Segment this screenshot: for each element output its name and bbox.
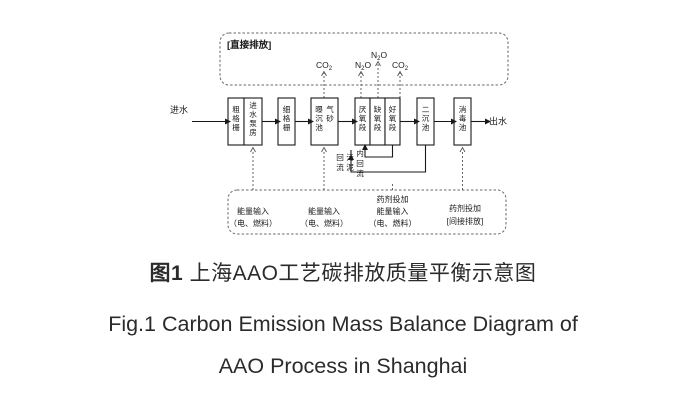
svg-text:房: 房 xyxy=(249,127,257,137)
energy-input-3-line1: 能量输入 xyxy=(377,206,409,216)
direct-emission-label: [直接排放] xyxy=(227,39,271,51)
energy-input-2-line2: （电、燃料） xyxy=(300,218,348,228)
label-aerated-grit-chamber: 曝 xyxy=(315,105,323,114)
svg-text:栅: 栅 xyxy=(232,122,240,132)
caption-english-line2: AAO Process in Shanghai xyxy=(0,354,686,379)
gas-label-co2-aerobic: CO2 xyxy=(392,60,409,72)
label-secondary-clarifier: 二 xyxy=(422,105,430,114)
svg-text:格: 格 xyxy=(232,113,240,123)
svg-text:CO2: CO2 xyxy=(392,60,409,72)
chemical-dosing-2-label: 药剂投加 xyxy=(449,203,481,213)
energy-input-1-line1: 能量输入 xyxy=(237,206,269,216)
svg-text:氧: 氧 xyxy=(389,113,397,123)
svg-text:回: 回 xyxy=(356,159,364,168)
svg-text:流: 流 xyxy=(356,168,364,178)
return-labels: 回 流 污 泥 内 回 流 xyxy=(336,148,364,178)
label-anoxic-zone: 缺 xyxy=(374,104,382,114)
gas-label-n2o-anaerobic: N2O xyxy=(355,60,371,72)
svg-text:毒: 毒 xyxy=(459,113,467,123)
label-fine-screen: 细 xyxy=(283,104,291,114)
chemical-dosing-label: 药剂投加 xyxy=(377,194,409,204)
inflow-label: 进水 xyxy=(170,104,188,115)
input-labels: 能量输入 （电、燃料） 能量输入 （电、燃料） 能量输入 （电、燃料） 药剂投加… xyxy=(229,203,483,228)
energy-input-2-line1: 能量输入 xyxy=(308,206,340,216)
internal-return-path xyxy=(365,145,393,157)
label-anaerobic-zone: 厌 xyxy=(359,105,367,114)
label-aerobic-zone: 好 xyxy=(389,104,397,114)
label-internal-return: 内 xyxy=(356,148,364,158)
svg-text:流: 流 xyxy=(336,162,344,172)
label-influent-pump-room: 进 xyxy=(249,101,257,110)
svg-text:水: 水 xyxy=(249,109,257,119)
svg-text:氧: 氧 xyxy=(359,113,367,123)
svg-text:气: 气 xyxy=(326,104,334,114)
svg-text:氧: 氧 xyxy=(374,113,382,123)
svg-text:格: 格 xyxy=(283,113,291,123)
svg-text:泵: 泵 xyxy=(249,119,257,128)
svg-text:池: 池 xyxy=(422,122,430,132)
svg-text:段: 段 xyxy=(389,122,397,132)
svg-text:砂: 砂 xyxy=(326,113,334,123)
caption-figure-number: 图1 xyxy=(150,262,184,285)
gas-label-co2-grit: CO2 xyxy=(316,60,333,72)
energy-input-1-line2: （电、燃料） xyxy=(229,218,277,228)
svg-text:段: 段 xyxy=(359,122,367,132)
svg-text:池: 池 xyxy=(459,122,467,132)
energy-input-3-line2: （电、燃料） xyxy=(369,218,417,228)
outflow-label: 出水 xyxy=(489,116,507,127)
label-disinfection-tank: 消 xyxy=(459,104,467,114)
caption-english-line1: Fig.1 Carbon Emission Mass Balance Diagr… xyxy=(0,312,686,337)
gas-label-n2o-anoxic: N2O xyxy=(371,50,387,62)
svg-text:沉: 沉 xyxy=(315,114,323,123)
svg-text:段: 段 xyxy=(374,122,382,132)
label-coarse-screen: 粗 xyxy=(232,104,240,114)
indirect-emission-label: [间接排放] xyxy=(447,216,483,226)
svg-text:泥: 泥 xyxy=(346,163,354,172)
caption-chinese-text: 上海AAO工艺碳排放质量平衡示意图 xyxy=(190,262,537,285)
label-sludge-return: 回 xyxy=(336,153,344,162)
svg-text:沉: 沉 xyxy=(422,114,430,123)
caption-chinese: 图1 上海AAO工艺碳排放质量平衡示意图 xyxy=(0,262,686,286)
svg-text:池: 池 xyxy=(315,122,323,132)
svg-text:N2O: N2O xyxy=(371,50,387,62)
svg-text:CO2: CO2 xyxy=(316,60,333,72)
svg-text:栅: 栅 xyxy=(283,122,291,132)
label-sludge: 污 xyxy=(346,153,354,162)
svg-text:N2O: N2O xyxy=(355,60,371,72)
